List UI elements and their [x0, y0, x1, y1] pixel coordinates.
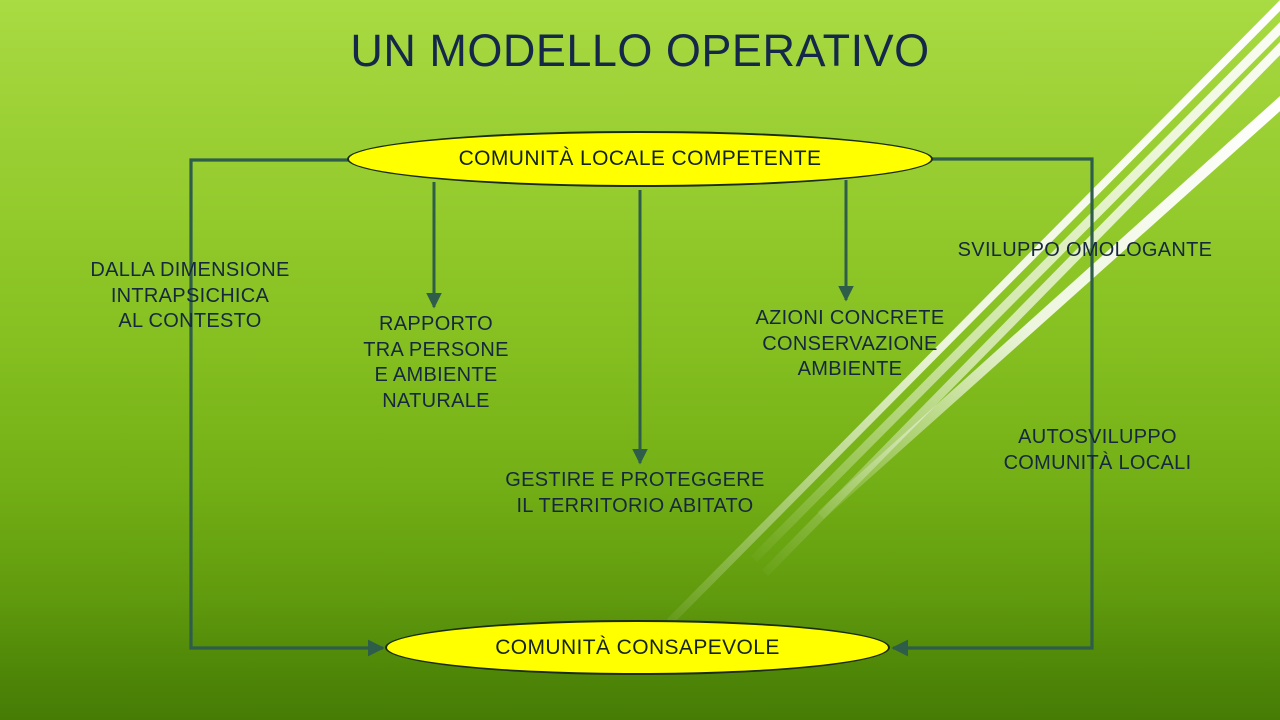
node-label: COMUNITÀ CONSAPEVOLE — [495, 636, 780, 660]
node-label: COMUNITÀ LOCALE COMPETENTE — [459, 147, 822, 171]
diagonal-streaks-decoration — [0, 0, 1280, 720]
slide-canvas: UN MODELLO OPERATIVO COMUNITÀ LOCALE COM… — [0, 0, 1280, 720]
label-autosviluppo-comunita-locali: AUTOSVILUPPO COMUNITÀ LOCALI — [980, 425, 1215, 476]
label-rapporto-tra-persone: RAPPORTO TRA PERSONE E AMBIENTE NATURALE — [338, 312, 534, 414]
streak-2 — [751, 22, 1280, 562]
node-comunita-consapevole[interactable]: COMUNITÀ CONSAPEVOLE — [385, 620, 890, 675]
node-comunita-locale-competente[interactable]: COMUNITÀ LOCALE COMPETENTE — [347, 131, 933, 187]
label-gestire-e-proteggere: GESTIRE E PROTEGGERE IL TERRITORIO ABITA… — [490, 468, 780, 519]
label-azioni-concrete: AZIONI CONCRETE CONSERVAZIONE AMBIENTE — [735, 306, 965, 383]
connector-right-loop — [893, 159, 1092, 648]
label-dalla-dimensione: DALLA DIMENSIONE INTRAPSICHICA AL CONTES… — [60, 258, 320, 335]
page-title: UN MODELLO OPERATIVO — [0, 26, 1280, 76]
label-sviluppo-omologante: SVILUPPO OMOLOGANTE — [935, 238, 1235, 264]
connector-arrows — [0, 0, 1280, 720]
